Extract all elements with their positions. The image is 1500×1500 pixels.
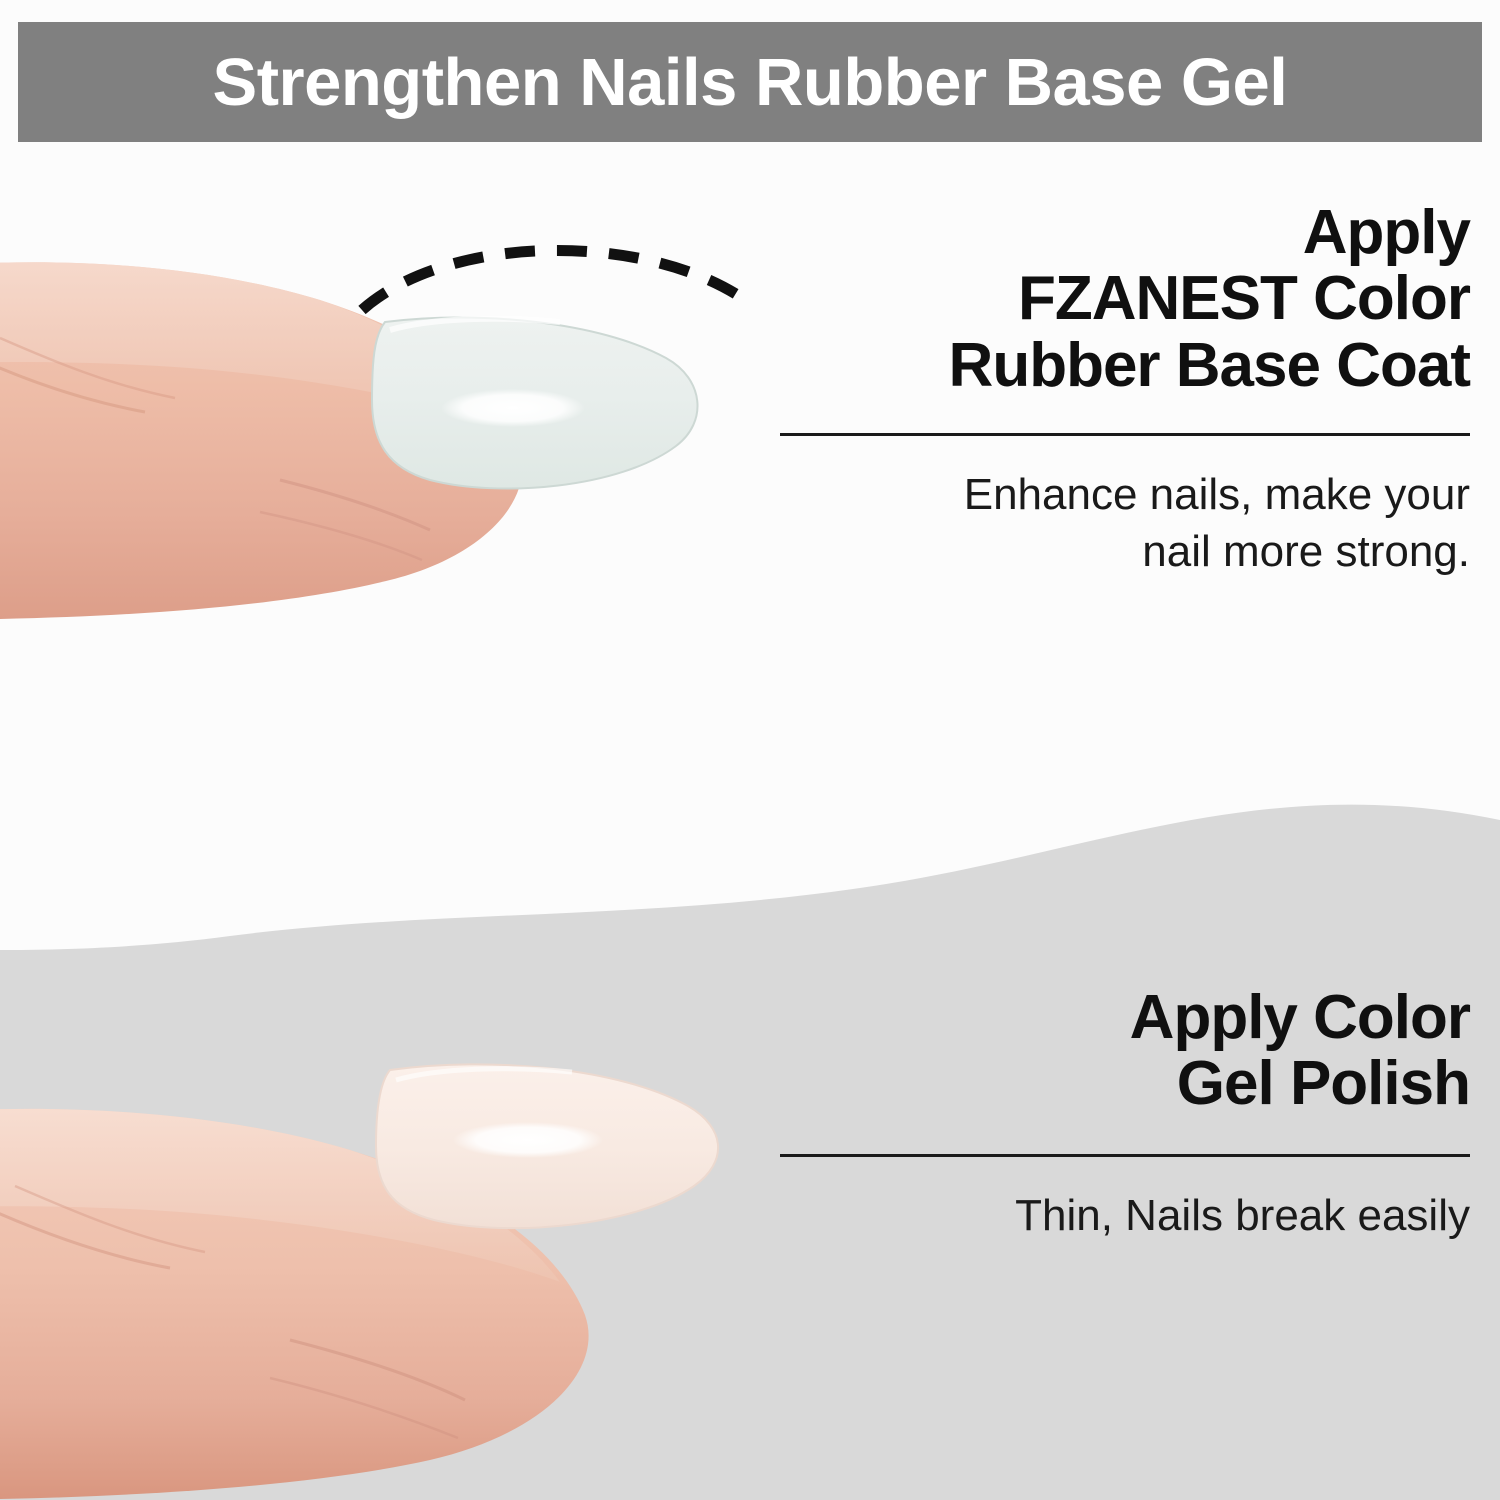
finger-illustration-step-2 [0, 1010, 760, 1500]
step-2-text-block: Apply Color Gel Polish Thin, Nails break… [780, 985, 1470, 1244]
step-2-headline: Apply Color Gel Polish [780, 985, 1470, 1118]
step-2-headline-line-2: Gel Polish [780, 1051, 1470, 1117]
header-banner: Strengthen Nails Rubber Base Gel [18, 22, 1482, 142]
step-1-caption: Enhance nails, make your nail more stron… [780, 466, 1470, 580]
finger-illustration-step-1 [0, 150, 720, 670]
step-2-headline-line-1: Apply Color [780, 985, 1470, 1051]
step-2-caption-line-1: Thin, Nails break easily [780, 1187, 1470, 1244]
step-2-caption: Thin, Nails break easily [780, 1187, 1470, 1244]
page-title: Strengthen Nails Rubber Base Gel [213, 49, 1288, 116]
step-1-headline-line-3: Rubber Base Coat [780, 333, 1470, 399]
dashed-arc-indicator [350, 240, 770, 350]
step-1-headline-line-1: Apply [780, 200, 1470, 266]
step-1-caption-line-1: Enhance nails, make your [780, 466, 1470, 523]
step-1-text-block: Apply FZANEST Color Rubber Base Coat Enh… [780, 200, 1470, 580]
product-infographic: Strengthen Nails Rubber Base Gel [0, 0, 1500, 1500]
step-1-headline: Apply FZANEST Color Rubber Base Coat [780, 200, 1470, 399]
step-1-divider [780, 433, 1470, 436]
step-2-divider [780, 1154, 1470, 1157]
step-1-caption-line-2: nail more strong. [780, 523, 1470, 580]
step-1-headline-line-2: FZANEST Color [780, 266, 1470, 332]
